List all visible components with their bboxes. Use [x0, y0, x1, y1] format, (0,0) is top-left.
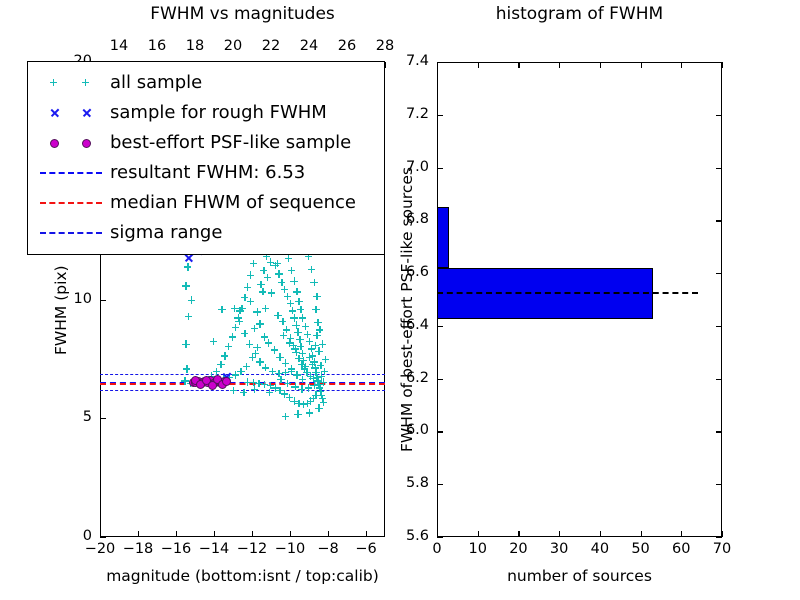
histogram-y-tick-mark-right	[716, 431, 722, 432]
legend-item[interactable]: sample for rough FWHM	[36, 98, 374, 128]
reference-line	[100, 390, 385, 391]
histogram-x-tick-mark-top	[518, 62, 519, 68]
y-tick-label: 0	[44, 528, 92, 544]
legend-marker-dashed-line-icon	[36, 160, 110, 186]
histogram-y-tick-mark-right	[716, 537, 722, 538]
histogram-panel-title: histogram of FWHM	[437, 4, 722, 24]
histogram-median-line	[437, 292, 698, 294]
bottom-tick-mark	[366, 531, 367, 537]
bottom-tick-mark	[328, 531, 329, 537]
histogram-y-tick-mark	[437, 431, 443, 432]
scatter-x-axis-label: magnitude (bottom:isnt / top:calib)	[60, 567, 425, 585]
y-tick-mark	[100, 418, 106, 419]
histogram-x-tick-mark-top	[722, 62, 723, 68]
y-tick-mark	[100, 300, 106, 301]
histogram-y-tick-label: 5.6	[385, 528, 429, 544]
histogram-x-tick-mark	[722, 531, 723, 537]
histogram-y-axis-label: FWHM of best-effort PSF-like sources	[398, 166, 416, 451]
figure-canvas: FWHM vs magnitudes 1416182022242628 −20−…	[0, 0, 800, 600]
legend-glyph	[82, 108, 92, 118]
legend: all samplesample for rough FWHMbest-effo…	[27, 61, 385, 255]
histogram-y-tick-mark	[437, 62, 443, 63]
legend-marker-plus-icon	[36, 70, 110, 96]
histogram-y-tick-label: 7.2	[385, 106, 429, 122]
histogram-x-tick-mark-top	[641, 62, 642, 68]
legend-line-sample	[40, 232, 102, 234]
histogram-y-tick-mark-right	[716, 62, 722, 63]
legend-item[interactable]: best-effort PSF-like sample	[36, 128, 374, 158]
histogram-y-tick-mark-right	[716, 326, 722, 327]
legend-glyph	[82, 79, 91, 88]
histogram-x-tick-mark	[681, 531, 682, 537]
legend-item[interactable]: all sample	[36, 68, 374, 98]
top-tick-label: 28	[360, 38, 410, 54]
legend-marker-cross-icon	[36, 100, 110, 126]
bottom-tick-label: −6	[341, 541, 391, 557]
reference-line	[100, 374, 385, 375]
bottom-tick-mark	[176, 531, 177, 537]
legend-glyph	[50, 139, 59, 148]
legend-item-label: best-effort PSF-like sample	[110, 134, 351, 152]
histogram-y-tick-label: 7.4	[385, 53, 429, 69]
scatter-y-axis-label: FWHM (pix)	[52, 265, 70, 355]
histogram-y-tick-label: 5.8	[385, 475, 429, 491]
reference-line	[100, 383, 385, 385]
histogram-y-tick-mark	[437, 168, 443, 169]
bottom-tick-mark	[214, 531, 215, 537]
legend-item[interactable]: sigma range	[36, 218, 374, 248]
histogram-y-tick-mark-right	[716, 273, 722, 274]
legend-item[interactable]: median FHWM of sequence	[36, 188, 374, 218]
legend-glyph	[50, 108, 60, 118]
histogram-x-tick-mark-top	[600, 62, 601, 68]
histogram-x-tick-label: 70	[697, 541, 747, 557]
histogram-x-axis-label: number of sources	[437, 567, 722, 585]
legend-item-label: sigma range	[110, 224, 222, 242]
legend-item-label: all sample	[110, 74, 202, 92]
histogram-y-tick-mark	[437, 115, 443, 116]
legend-item-label: sample for rough FWHM	[110, 104, 327, 122]
legend-line-sample	[40, 202, 102, 204]
y-tick-mark	[100, 537, 106, 538]
histogram-y-tick-mark	[437, 379, 443, 380]
legend-marker-dashdot-line-icon	[36, 220, 110, 246]
histogram-y-tick-mark	[437, 537, 443, 538]
histogram-bar	[437, 207, 449, 268]
legend-glyph	[50, 79, 59, 88]
legend-item[interactable]: resultant FWHM: 6.53	[36, 158, 374, 188]
histogram-x-tick-mark	[641, 531, 642, 537]
y-tick-label: 5	[44, 409, 92, 425]
histogram-x-tick-mark-top	[478, 62, 479, 68]
histogram-x-tick-mark-top	[559, 62, 560, 68]
histogram-y-tick-mark	[437, 326, 443, 327]
legend-marker-dashed-line-icon	[36, 190, 110, 216]
histogram-y-tick-mark-right	[716, 379, 722, 380]
histogram-y-tick-mark-right	[716, 168, 722, 169]
bottom-tick-mark	[290, 531, 291, 537]
histogram-y-tick-mark-right	[716, 115, 722, 116]
histogram-y-tick-mark-right	[716, 220, 722, 221]
histogram-x-tick-mark	[559, 531, 560, 537]
histogram-y-tick-mark-right	[716, 484, 722, 485]
histogram-y-tick-mark	[437, 484, 443, 485]
histogram-x-tick-mark	[478, 531, 479, 537]
legend-line-sample	[40, 172, 102, 174]
bottom-tick-mark	[252, 531, 253, 537]
legend-glyph	[82, 139, 91, 148]
legend-item-label: resultant FWHM: 6.53	[110, 164, 305, 182]
legend-marker-dot-icon	[36, 130, 110, 156]
scatter-panel-title: FWHM vs magnitudes	[100, 4, 385, 24]
histogram-x-tick-mark	[518, 531, 519, 537]
bottom-tick-mark	[138, 531, 139, 537]
legend-item-label: median FHWM of sequence	[110, 194, 356, 212]
histogram-x-tick-mark-top	[681, 62, 682, 68]
histogram-x-tick-mark	[600, 531, 601, 537]
